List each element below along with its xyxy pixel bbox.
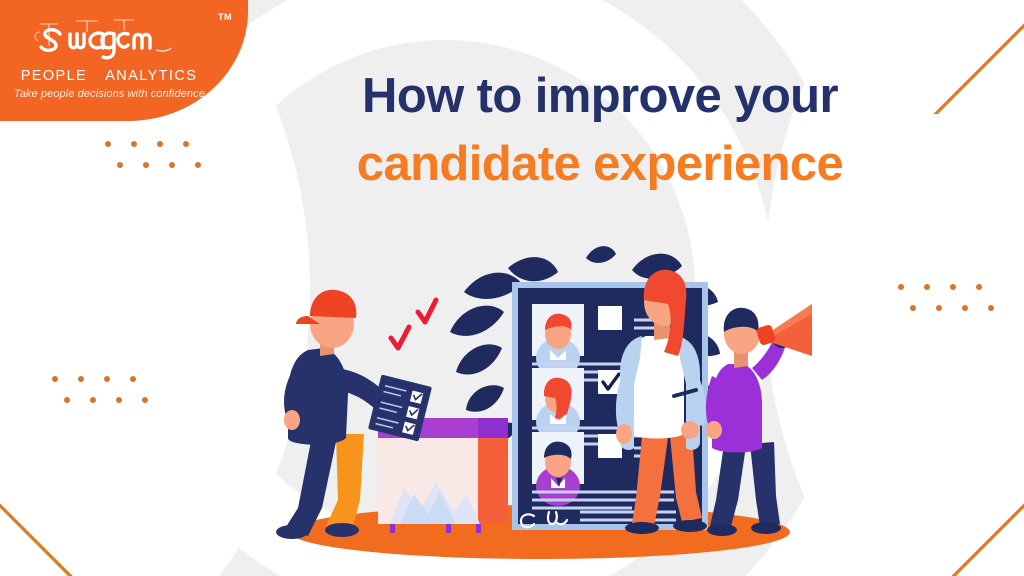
logo-wordmark	[18, 14, 218, 62]
dot-grid-right	[898, 284, 994, 311]
checkmark-icons	[391, 300, 436, 348]
logo-trademark: TM	[218, 12, 232, 22]
man-with-megaphone	[706, 304, 812, 536]
headline-line-1: How to improve your	[300, 70, 900, 124]
dot-grid-bottom-left	[52, 376, 148, 403]
stripes-bottom-right	[874, 474, 1024, 576]
dot-grid-top-left	[105, 141, 201, 168]
page-title: How to improve your candidate experience	[300, 70, 900, 192]
checkbox-1	[598, 306, 622, 330]
stripes-bottom-left	[0, 474, 150, 576]
logo-tagline: Take people decisions with confidence.	[0, 88, 222, 100]
logo-subtitle: PEOPLE ANALYTICS	[0, 68, 218, 84]
illustration	[250, 240, 820, 570]
logo-subtitle-people: PEOPLE	[21, 68, 87, 84]
headline-line-2: candidate experience	[300, 138, 900, 192]
banner: TM PEOPLE ANALYTICS Take people decision…	[0, 0, 1024, 576]
logo-subtitle-analytics: ANALYTICS	[105, 68, 197, 84]
